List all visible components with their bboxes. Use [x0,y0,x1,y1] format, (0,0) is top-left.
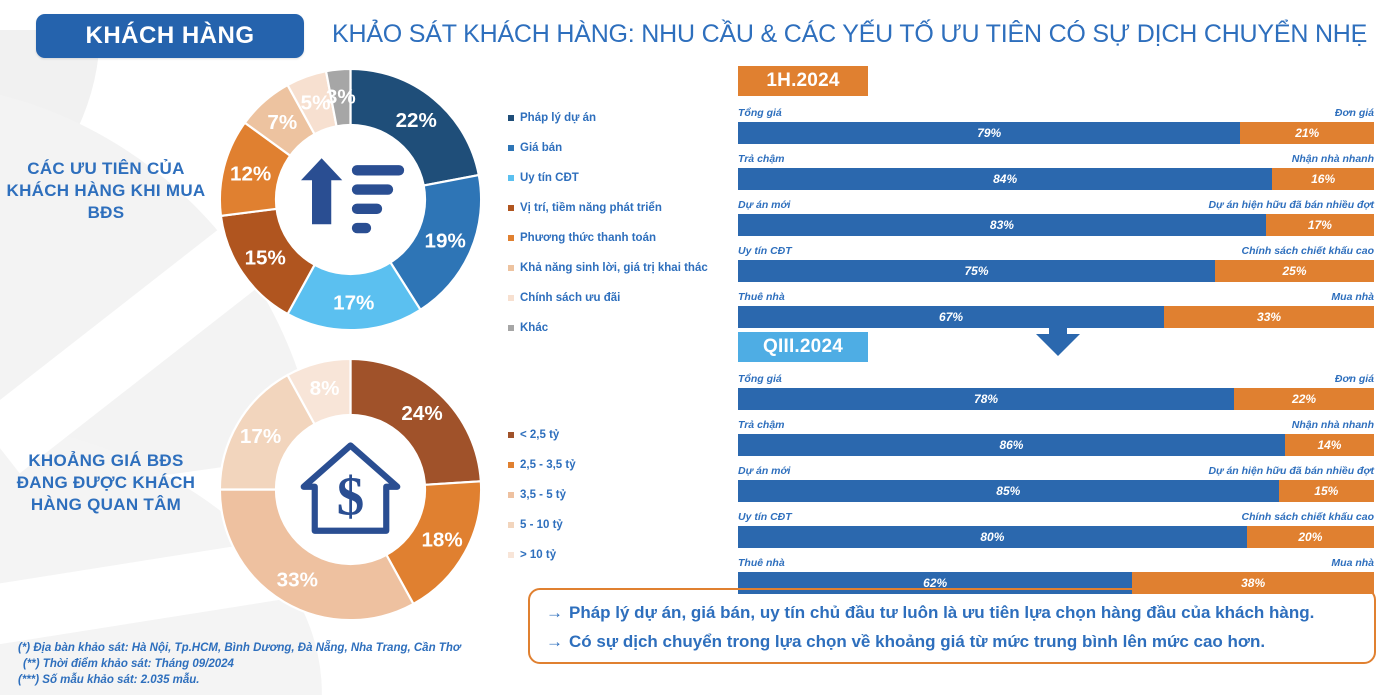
bar-track: 75%25% [738,260,1374,282]
bar-segment-right: 16% [1272,168,1374,190]
bar-segment-right: 33% [1164,306,1374,328]
bar-right-caption: Chính sách chiết khấu cao [1242,245,1374,258]
legend-item: Phương thức thanh toán [508,223,708,253]
callout-arrow-icon: → [546,603,563,622]
svg-text:$: $ [337,465,365,526]
bar-row: Tổng giáĐơn giá79%21% [738,107,1374,144]
legend-label: Vị trí, tiềm năng phát triển [520,202,662,214]
callout-line-2: →Có sự dịch chuyển trong lựa chọn về kho… [546,627,1360,656]
panel-1h-2024: 1H.2024 Tổng giáĐơn giá79%21%Trả chậmNhậ… [738,66,1374,337]
legend-swatch [508,205,514,211]
legend-swatch [508,115,514,121]
legend-item: Uy tín CĐT [508,163,708,193]
bar-row: Trả chậmNhận nhà nhanh86%14% [738,419,1374,456]
pie-slice-label: 15% [245,246,286,269]
bar-segment-right: 25% [1215,260,1374,282]
period-badge-qiii: QIII.2024 [738,332,868,362]
panel-qiii-2024: QIII.2024 Tổng giáĐơn giá78%22%Trả chậmN… [738,332,1374,603]
bar-row: Uy tín CĐTChính sách chiết khấu cao75%25… [738,245,1374,282]
bar-segment-right: 21% [1240,122,1374,144]
bar-track: 85%15% [738,480,1374,502]
legend-item: 3,5 - 5 tỷ [508,480,576,510]
bar-captions: Tổng giáĐơn giá [738,373,1374,386]
pie-slice-label: 33% [277,568,318,591]
legend-swatch [508,265,514,271]
legend-label: 2,5 - 3,5 tỷ [520,459,576,471]
donut-chart-price-range: $ 24%18%33%17%8% [213,352,488,627]
legend-label: Khả năng sinh lời, giá trị khai thác [520,262,708,274]
bar-segment-left: 67% [738,306,1164,328]
donut2-section-label: KHOẢNG GIÁ BĐS ĐANG ĐƯỢC KHÁCH HÀNG QUAN… [6,450,206,516]
bar-right-caption: Nhận nhà nhanh [1292,153,1374,166]
period-badge-1h: 1H.2024 [738,66,868,96]
legend-swatch [508,295,514,301]
callout-text: Có sự dịch chuyển trong lựa chọn về khoả… [569,632,1265,651]
bar-segment-right: 15% [1279,480,1374,502]
bar-left-caption: Tổng giá [738,107,782,120]
slide-header: KHÁCH HÀNG KHẢO SÁT KHÁCH HÀNG: NHU CẦU … [0,0,1390,66]
callout-arrow-icon: → [546,632,563,651]
legend-label: < 2,5 tỷ [520,429,559,441]
bar-track: 84%16% [738,168,1374,190]
donut1-hole [275,124,426,275]
legend-label: Giá bán [520,142,562,154]
legend-item: < 2,5 tỷ [508,420,576,450]
donut1-section-label: CÁC ƯU TIÊN CỦA KHÁCH HÀNG KHI MUA BĐS [6,158,206,224]
bar-segment-right: 20% [1247,526,1374,548]
callout-text: Pháp lý dự án, giá bán, uy tín chủ đầu t… [569,603,1314,622]
legend-item: Khác [508,313,708,343]
bar-track: 86%14% [738,434,1374,456]
pie-slice-label: 8% [310,377,340,400]
bar-segment-right: 22% [1234,388,1374,410]
legend-label: 3,5 - 5 tỷ [520,489,566,501]
bar-left-caption: Dự án mới [738,465,790,478]
callout-line-1: →Pháp lý dự án, giá bán, uy tín chủ đầu … [546,598,1360,627]
bar-captions: Tổng giáĐơn giá [738,107,1374,120]
bar-row: Dự án mớiDự án hiện hữu đã bán nhiều đợt… [738,199,1374,236]
bar-segment-left: 86% [738,434,1285,456]
legend-label: Uy tín CĐT [520,172,579,184]
bar-track: 80%20% [738,526,1374,548]
bar-captions: Thuê nhàMua nhà [738,557,1374,570]
bar-row: Trả chậmNhận nhà nhanh84%16% [738,153,1374,190]
footnote-2: (**) Thời điểm khảo sát: Tháng 09/2024 [18,656,488,672]
bar-row: Uy tín CĐTChính sách chiết khấu cao80%20… [738,511,1374,548]
pie-slice-label: 3% [326,86,356,109]
bar-right-caption: Chính sách chiết khấu cao [1242,511,1374,524]
donut2-legend: < 2,5 tỷ2,5 - 3,5 tỷ3,5 - 5 tỷ5 - 10 tỷ>… [508,420,576,570]
bar-segment-right: 17% [1266,214,1374,236]
donut2-svg: $ 24%18%33%17%8% [213,352,488,627]
legend-item: Khả năng sinh lời, giá trị khai thác [508,253,708,283]
bar-right-caption: Đơn giá [1335,107,1374,120]
bar-left-caption: Trả chậm [738,419,785,432]
page-title: KHẢO SÁT KHÁCH HÀNG: NHU CẦU & CÁC YẾU T… [332,20,1367,49]
bar-right-caption: Mua nhà [1331,291,1374,304]
bar-right-caption: Đơn giá [1335,373,1374,386]
bar-segment-right: 14% [1285,434,1374,456]
pie-slice-label: 17% [333,291,374,314]
legend-swatch [508,325,514,331]
legend-item: Vị trí, tiềm năng phát triển [508,193,708,223]
legend-item: 5 - 10 tỷ [508,510,576,540]
slide-root: KHÁCH HÀNG KHẢO SÁT KHÁCH HÀNG: NHU CẦU … [0,0,1390,695]
bar-captions: Thuê nhàMua nhà [738,291,1374,304]
legend-item: Pháp lý dự án [508,103,708,133]
bar-row: Dự án mớiDự án hiện hữu đã bán nhiều đợt… [738,465,1374,502]
legend-item: Giá bán [508,133,708,163]
bar-group-1h: Tổng giáĐơn giá79%21%Trả chậmNhận nhà nh… [738,107,1374,328]
legend-item: > 10 tỷ [508,540,576,570]
bar-captions: Uy tín CĐTChính sách chiết khấu cao [738,511,1374,524]
header-badge: KHÁCH HÀNG [36,14,304,58]
legend-swatch [508,145,514,151]
legend-label: > 10 tỷ [520,549,556,561]
legend-swatch [508,522,514,528]
footnote-3: (***) Số mẫu khảo sát: 2.035 mẫu. [18,672,488,688]
bar-segment-left: 83% [738,214,1266,236]
legend-label: Phương thức thanh toán [520,232,656,244]
bar-right-caption: Dự án hiện hữu đã bán nhiều đợt [1208,465,1374,478]
pie-slice-label: 18% [421,529,462,552]
bar-track: 79%21% [738,122,1374,144]
pie-slice-label: 22% [396,109,437,132]
bar-left-caption: Tổng giá [738,373,782,386]
bar-segment-left: 85% [738,480,1279,502]
legend-item: 2,5 - 3,5 tỷ [508,450,576,480]
bar-segment-left: 80% [738,526,1247,548]
bar-segment-left: 84% [738,168,1272,190]
bar-group-qiii: Tổng giáĐơn giá78%22%Trả chậmNhận nhà nh… [738,373,1374,594]
bar-left-caption: Uy tín CĐT [738,511,792,524]
footnote-1: (*) Địa bàn khảo sát: Hà Nội, Tp.HCM, Bì… [18,640,488,656]
bar-track: 83%17% [738,214,1374,236]
legend-swatch [508,432,514,438]
pie-slice-label: 7% [267,111,297,134]
bar-captions: Trả chậmNhận nhà nhanh [738,419,1374,432]
legend-label: Pháp lý dự án [520,112,596,124]
legend-label: Chính sách ưu đãi [520,292,620,304]
donut1-svg: 22%19%17%15%12%7%5%3% [213,62,488,337]
bar-track: 78%22% [738,388,1374,410]
donut1-legend: Pháp lý dự ánGiá bánUy tín CĐTVị trí, ti… [508,103,708,343]
donut-chart-priorities: 22%19%17%15%12%7%5%3% [213,62,488,337]
bar-segment-left: 78% [738,388,1234,410]
bar-left-caption: Thuê nhà [738,557,785,570]
bar-row: Tổng giáĐơn giá78%22% [738,373,1374,410]
insight-callout: →Pháp lý dự án, giá bán, uy tín chủ đầu … [528,588,1376,664]
bar-left-caption: Thuê nhà [738,291,785,304]
legend-swatch [508,552,514,558]
legend-item: Chính sách ưu đãi [508,283,708,313]
bar-left-caption: Trả chậm [738,153,785,166]
bar-captions: Trả chậmNhận nhà nhanh [738,153,1374,166]
bar-segment-left: 79% [738,122,1240,144]
pie-slice-label: 24% [401,402,442,425]
bar-segment-left: 75% [738,260,1215,282]
bar-right-caption: Mua nhà [1331,557,1374,570]
legend-label: Khác [520,322,548,334]
bar-left-caption: Uy tín CĐT [738,245,792,258]
legend-swatch [508,235,514,241]
bar-right-caption: Nhận nhà nhanh [1292,419,1374,432]
bar-captions: Uy tín CĐTChính sách chiết khấu cao [738,245,1374,258]
bar-captions: Dự án mớiDự án hiện hữu đã bán nhiều đợt [738,465,1374,478]
bar-captions: Dự án mớiDự án hiện hữu đã bán nhiều đợt [738,199,1374,212]
pie-slice-label: 17% [240,425,281,448]
pie-slice-label: 19% [425,229,466,252]
bar-right-caption: Dự án hiện hữu đã bán nhiều đợt [1208,199,1374,212]
legend-swatch [508,175,514,181]
legend-swatch [508,492,514,498]
legend-label: 5 - 10 tỷ [520,519,563,531]
pie-slice-label: 12% [230,163,271,186]
legend-swatch [508,462,514,468]
footnotes: (*) Địa bàn khảo sát: Hà Nội, Tp.HCM, Bì… [18,640,488,688]
bar-left-caption: Dự án mới [738,199,790,212]
